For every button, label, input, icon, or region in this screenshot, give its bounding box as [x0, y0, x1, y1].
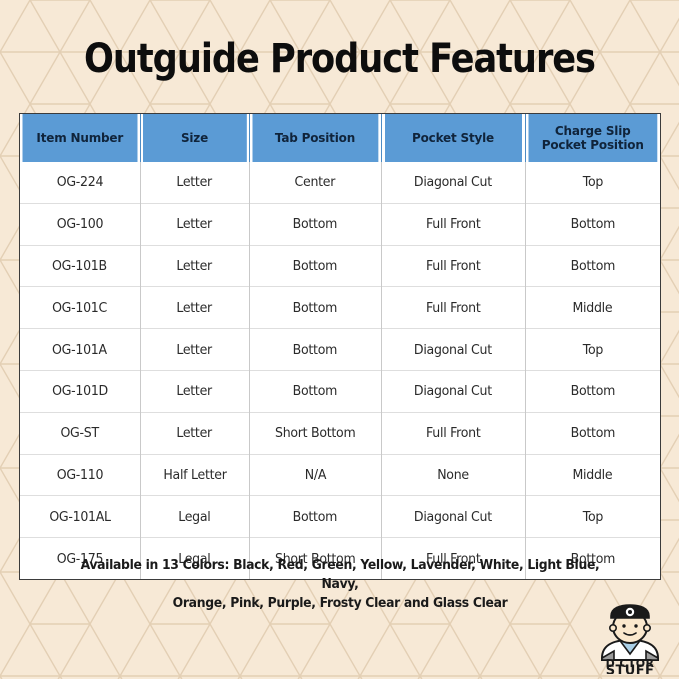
cell-tab-position-text: Bottom: [293, 509, 337, 525]
cell-pocket-style-text: Full Front: [426, 300, 480, 316]
cell-item-number-text: OG-ST: [61, 425, 99, 441]
cell-size: Letter: [140, 162, 249, 203]
cell-charge-slip-pocket-position: Bottom: [525, 412, 660, 454]
table-row: OG-101ALLegalBottomDiagonal CutTop: [20, 496, 660, 538]
cell-tab-position: Bottom: [249, 329, 381, 371]
cell-pocket-style: Diagonal Cut: [381, 162, 525, 203]
cell-size: Letter: [140, 245, 249, 287]
cell-pocket-style: None: [381, 454, 525, 496]
cell-size: Letter: [140, 329, 249, 371]
cell-tab-position: N/A: [249, 454, 381, 496]
cell-size: Legal: [140, 496, 249, 538]
cell-item-number: OG-101C: [20, 287, 140, 329]
cell-charge-slip-pocket-position-text: Top: [583, 342, 603, 358]
cell-item-number-text: OG-101D: [52, 383, 108, 399]
table-header: Item Number Size Tab Position Pocket Sty…: [20, 114, 660, 162]
cell-tab-position-text: Bottom: [293, 342, 337, 358]
table-row: OG-STLetterShort BottomFull FrontBottom: [20, 412, 660, 454]
column-header-charge-slip-line1: Charge Slip: [555, 123, 631, 138]
page-root: Outguide Product Features Item Number Si…: [0, 0, 679, 679]
column-header-size: Size: [142, 114, 247, 162]
cell-tab-position: Bottom: [249, 496, 381, 538]
cell-item-number-text: OG-100: [57, 216, 103, 232]
cell-charge-slip-pocket-position: Top: [525, 329, 660, 371]
logo-word-bottom: STUFF: [606, 664, 655, 675]
cell-tab-position-text: Bottom: [293, 300, 337, 316]
cell-item-number-text: OG-101AL: [49, 509, 110, 525]
table-row: OG-224LetterCenterDiagonal CutTop: [20, 162, 660, 203]
cell-charge-slip-pocket-position: Bottom: [525, 203, 660, 245]
cell-size: Half Letter: [140, 454, 249, 496]
cell-item-number: OG-224: [20, 162, 140, 203]
cell-pocket-style-text: Full Front: [426, 425, 480, 441]
cell-tab-position-text: N/A: [304, 467, 325, 483]
cell-pocket-style-text: Diagonal Cut: [414, 383, 492, 399]
cell-tab-position: Bottom: [249, 203, 381, 245]
cell-tab-position: Center: [249, 162, 381, 203]
cell-tab-position: Short Bottom: [249, 412, 381, 454]
cell-size-text: Letter: [177, 342, 213, 358]
doctor-stuff-wordmark: D CTOR STUFF: [606, 657, 655, 674]
table-body: OG-224LetterCenterDiagonal CutTopOG-100L…: [20, 162, 660, 579]
column-header-tab-position-label: Tab Position: [275, 130, 355, 145]
cell-item-number-text: OG-224: [57, 174, 103, 190]
cell-pocket-style-text: Full Front: [426, 216, 480, 232]
cell-charge-slip-pocket-position-text: Bottom: [571, 258, 615, 274]
color-availability-note: Available in 13 Colors: Black, Red, Gree…: [60, 556, 620, 613]
cell-tab-position: Bottom: [249, 245, 381, 287]
column-header-pocket-style: Pocket Style: [384, 114, 522, 162]
column-header-size-label: Size: [181, 130, 208, 145]
cell-pocket-style: Diagonal Cut: [381, 329, 525, 371]
cell-size: Letter: [140, 370, 249, 412]
cell-item-number: OG-101B: [20, 245, 140, 287]
cell-size-text: Letter: [177, 258, 213, 274]
cell-pocket-style-text: Full Front: [426, 258, 480, 274]
column-header-charge-slip-line2: Pocket Position: [542, 137, 644, 152]
cell-pocket-style-text: Diagonal Cut: [414, 174, 492, 190]
column-header-item-number-label: Item Number: [36, 130, 123, 145]
color-availability-note-line1: Available in 13 Colors: Black, Red, Gree…: [77, 556, 603, 594]
cell-pocket-style: Diagonal Cut: [381, 370, 525, 412]
cell-size-text: Legal: [178, 509, 210, 525]
cell-charge-slip-pocket-position-text: Middle: [573, 467, 613, 483]
cell-size: Letter: [140, 287, 249, 329]
cell-tab-position-text: Bottom: [293, 216, 337, 232]
column-header-charge-slip-pocket-position: Charge Slip Pocket Position: [528, 114, 658, 162]
cell-tab-position-text: Center: [295, 174, 336, 190]
cell-pocket-style: Full Front: [381, 412, 525, 454]
cell-item-number: OG-101AL: [20, 496, 140, 538]
product-features-table: Item Number Size Tab Position Pocket Sty…: [20, 114, 660, 579]
cell-pocket-style-text: Diagonal Cut: [414, 509, 492, 525]
doctor-stuff-logo: D CTOR STUFF: [588, 604, 672, 674]
cell-size: Letter: [140, 203, 249, 245]
cell-charge-slip-pocket-position-text: Bottom: [571, 383, 615, 399]
cell-item-number: OG-110: [20, 454, 140, 496]
cell-charge-slip-pocket-position-text: Top: [583, 174, 603, 190]
cell-pocket-style: Full Front: [381, 203, 525, 245]
table-row: OG-100LetterBottomFull FrontBottom: [20, 203, 660, 245]
cell-item-number-text: OG-101A: [52, 342, 107, 358]
cell-pocket-style-text: Diagonal Cut: [414, 342, 492, 358]
column-header-item-number: Item Number: [22, 114, 137, 162]
cell-item-number: OG-101D: [20, 370, 140, 412]
cell-pocket-style-text: None: [437, 467, 469, 483]
cell-size-text: Letter: [177, 216, 213, 232]
cell-item-number-text: OG-110: [57, 467, 103, 483]
cell-size-text: Letter: [177, 300, 213, 316]
cell-tab-position-text: Short Bottom: [275, 425, 355, 441]
table-row: OG-110Half LetterN/ANoneMiddle: [20, 454, 660, 496]
cell-charge-slip-pocket-position: Top: [525, 162, 660, 203]
cell-charge-slip-pocket-position: Bottom: [525, 370, 660, 412]
column-header-pocket-style-label: Pocket Style: [412, 130, 494, 145]
cell-tab-position-text: Bottom: [293, 383, 337, 399]
cell-size: Letter: [140, 412, 249, 454]
cell-item-number: OG-100: [20, 203, 140, 245]
cell-pocket-style: Diagonal Cut: [381, 496, 525, 538]
color-availability-note-line2: Orange, Pink, Purple, Frosty Clear and G…: [173, 594, 508, 613]
cell-tab-position: Bottom: [249, 287, 381, 329]
table-row: OG-101BLetterBottomFull FrontBottom: [20, 245, 660, 287]
cell-charge-slip-pocket-position-text: Bottom: [571, 425, 615, 441]
page-title: Outguide Product Features: [41, 36, 639, 82]
cell-size-text: Letter: [177, 174, 213, 190]
cell-pocket-style: Full Front: [381, 245, 525, 287]
table-row: OG-101ALetterBottomDiagonal CutTop: [20, 329, 660, 371]
table-header-row: Item Number Size Tab Position Pocket Sty…: [20, 114, 660, 162]
cell-size-text: Letter: [177, 383, 213, 399]
column-header-tab-position: Tab Position: [252, 114, 379, 162]
cell-pocket-style: Full Front: [381, 287, 525, 329]
cell-charge-slip-pocket-position-text: Top: [583, 509, 603, 525]
cell-size-text: Half Letter: [163, 467, 226, 483]
cell-item-number-text: OG-101C: [52, 300, 107, 316]
cell-charge-slip-pocket-position-text: Bottom: [571, 216, 615, 232]
cell-tab-position-text: Bottom: [293, 258, 337, 274]
cell-charge-slip-pocket-position: Top: [525, 496, 660, 538]
doctor-character-icon: [602, 605, 658, 660]
cell-size-text: Letter: [177, 425, 213, 441]
cell-charge-slip-pocket-position: Middle: [525, 287, 660, 329]
cell-item-number: OG-ST: [20, 412, 140, 454]
cell-charge-slip-pocket-position: Bottom: [525, 245, 660, 287]
cell-item-number-text: OG-101B: [52, 258, 107, 274]
cell-charge-slip-pocket-position-text: Middle: [573, 300, 613, 316]
cell-item-number: OG-101A: [20, 329, 140, 371]
table-row: OG-101CLetterBottomFull FrontMiddle: [20, 287, 660, 329]
cell-charge-slip-pocket-position: Middle: [525, 454, 660, 496]
table-row: OG-101DLetterBottomDiagonal CutBottom: [20, 370, 660, 412]
cell-tab-position: Bottom: [249, 370, 381, 412]
product-features-table-container: Item Number Size Tab Position Pocket Sty…: [19, 113, 661, 580]
